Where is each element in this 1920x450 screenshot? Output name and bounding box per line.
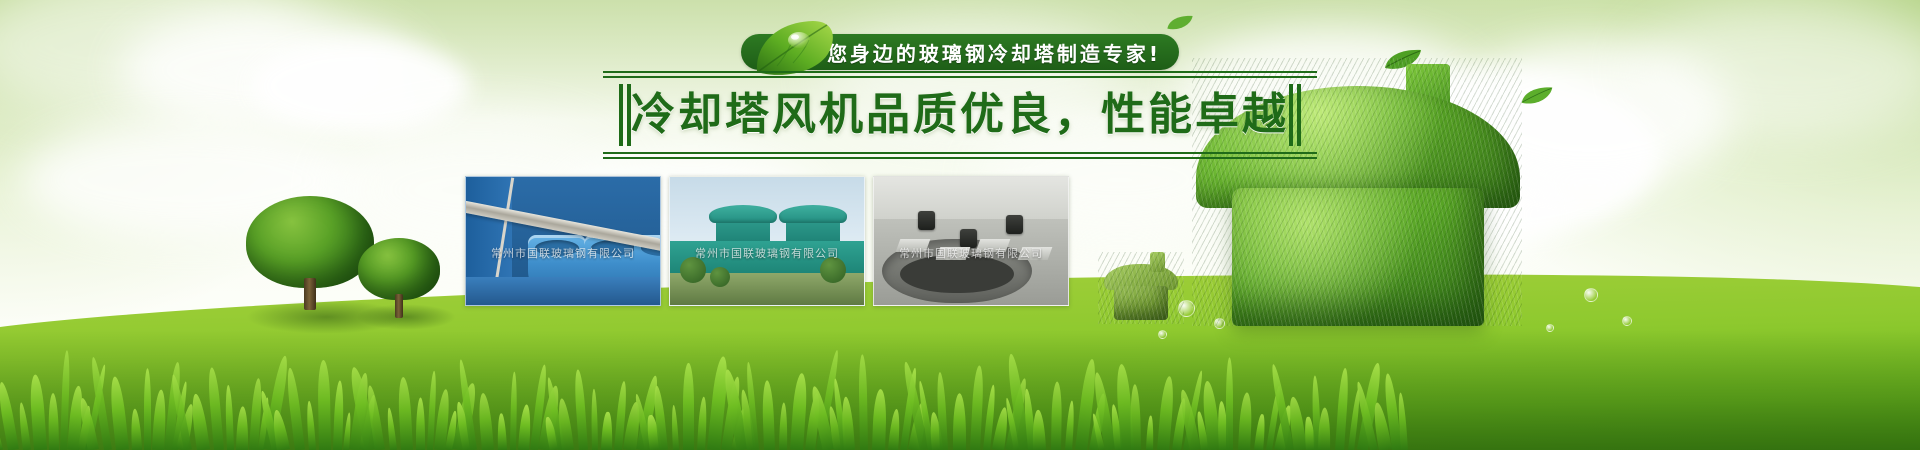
headline-bar-left [619, 84, 631, 146]
headline-bar-right [1289, 84, 1301, 146]
grass-blade [306, 401, 316, 450]
photo-backdrop [874, 177, 1068, 221]
grass-blade [573, 369, 588, 450]
grass-blade [416, 397, 425, 450]
grass-blade [1226, 357, 1233, 450]
grass-blade [872, 389, 887, 450]
grass-blade [888, 409, 902, 450]
hero-banner: 您身边的玻璃钢冷却塔制造专家! 冷却塔风机品质优良，性能卓越 常州市国联玻璃钢有… [0, 0, 1920, 450]
headline-text: 冷却塔风机品质优良，性能卓越 [631, 89, 1289, 141]
tree-crown [246, 196, 374, 288]
grass-blade [29, 374, 47, 450]
moss-house-icon [1098, 252, 1184, 324]
tree-icon [246, 196, 374, 308]
grass-blade-row [0, 338, 1920, 450]
grass-blade [591, 389, 598, 450]
fan-motor [918, 211, 935, 230]
product-photo-green-cooling-towers[interactable]: 常州市国联玻璃钢有限公司 [669, 176, 865, 306]
tree-icon [358, 238, 440, 316]
grass-blade [189, 393, 210, 450]
fan-motor [960, 229, 977, 248]
grass-blade [1335, 368, 1350, 450]
grass-blade [225, 385, 234, 450]
grass-blade [236, 406, 249, 450]
tagline-text: 您身边的玻璃钢冷却塔制造专家! [827, 38, 1161, 67]
grass-blade [285, 367, 305, 450]
grass-blade [683, 363, 694, 450]
grass-blade [1032, 410, 1046, 450]
grass-blade [697, 397, 708, 450]
grass-blade [333, 380, 344, 450]
tagline-pill: 您身边的玻璃钢冷却塔制造专家! [741, 34, 1179, 70]
grass-blade [1254, 414, 1267, 450]
grass-blade [953, 393, 966, 450]
grass-blade [1051, 382, 1062, 450]
moss-house-body [1114, 286, 1168, 320]
grass-blade [858, 354, 868, 450]
headline-row: 冷却塔风机品质优良，性能卓越 [593, 84, 1327, 146]
grass-blade [397, 377, 413, 450]
shrub-icon [820, 257, 846, 283]
grass-blade [0, 381, 19, 450]
grass-blade [1130, 384, 1141, 450]
grass-blade [497, 413, 507, 450]
grass-blade [762, 380, 775, 450]
shrub-icon [710, 267, 730, 287]
grass-blade [130, 408, 142, 450]
grass-blade [510, 372, 517, 450]
tree-crown [358, 238, 440, 300]
grass-blade [207, 367, 224, 450]
grass-blade [17, 402, 31, 450]
grass-blade [1146, 415, 1154, 450]
grass-blade [840, 396, 855, 450]
banner-copy: 您身边的玻璃钢冷却塔制造专家! 冷却塔风机品质优良，性能卓越 [0, 34, 1920, 146]
roof-panel [1018, 247, 1053, 260]
photo-deck [466, 277, 660, 305]
floating-leaf-icon [1166, 14, 1194, 32]
roof-panel [976, 239, 1011, 252]
grass-blade [1065, 400, 1075, 450]
grass-blade [48, 393, 59, 450]
grass-blade [601, 412, 613, 450]
grass-blade [317, 360, 331, 450]
product-photo-blue-frp-tank-line[interactable]: 常州市国联玻璃钢有限公司 [465, 176, 661, 306]
grass-blade [1318, 408, 1331, 450]
grass-blade [144, 368, 151, 450]
headline-rule-bottom [603, 152, 1317, 159]
product-photo-rooftop-fans[interactable]: 常州市国联玻璃钢有限公司 [873, 176, 1069, 306]
shrub-icon [680, 257, 706, 283]
roof-panel [936, 247, 971, 260]
grass-blade [477, 393, 494, 450]
fan-motor [1006, 215, 1023, 234]
house-body [1232, 188, 1484, 326]
tree-trunk [395, 294, 403, 318]
roof-panel [896, 239, 931, 252]
moss-house-chimney [1150, 252, 1165, 272]
grass-blade [779, 402, 788, 450]
grass-blade [386, 407, 397, 450]
grass-blade [1238, 392, 1253, 450]
tree-trunk [304, 278, 316, 310]
product-photo-strip: 常州市国联玻璃钢有限公司 常州市国联玻璃钢有限公司 常州市国联玻璃钢有限公 [465, 176, 1069, 306]
grass-blade [970, 365, 984, 450]
headline-rule-top [603, 71, 1317, 78]
grass-blade [108, 376, 129, 450]
grass-blade [671, 405, 679, 450]
